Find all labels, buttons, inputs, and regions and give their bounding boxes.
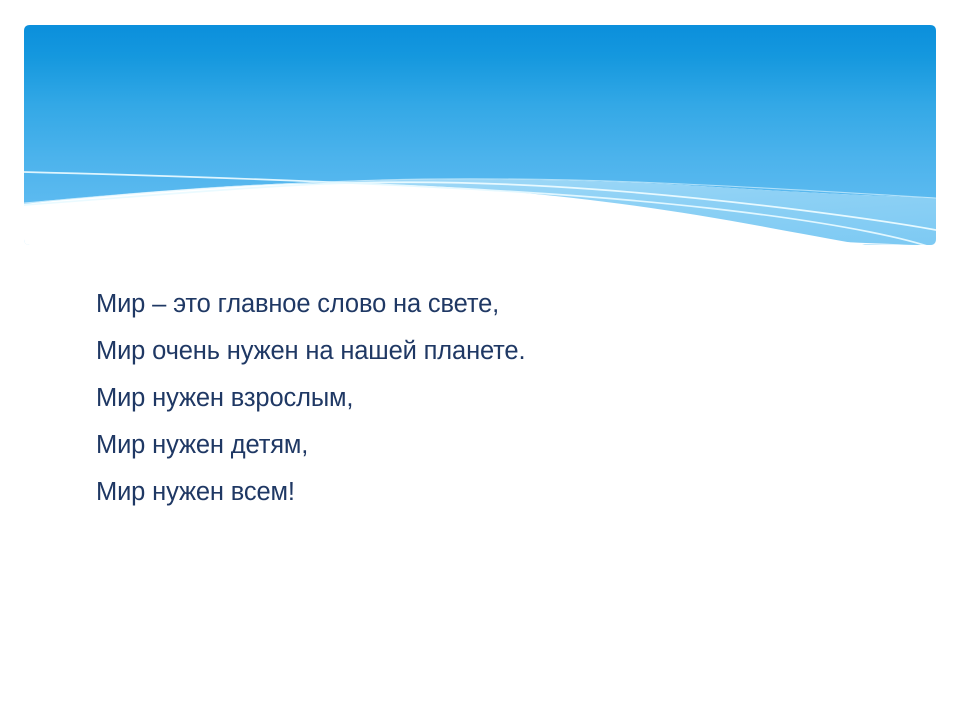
accent-highlight-edge xyxy=(24,179,936,203)
text-line-3: Мир нужен взрослым, xyxy=(96,375,896,422)
banner-graphic xyxy=(0,0,960,280)
text-line-1: Мир – это главное слово на свете, xyxy=(96,281,896,328)
primary-blue-wave xyxy=(24,25,936,203)
blue-wave-banner-decoration xyxy=(0,0,960,280)
banner-clipped-group xyxy=(24,25,936,280)
text-line-4: Мир нужен детям, xyxy=(96,422,896,469)
white-wave-cutout xyxy=(24,183,936,280)
slide-canvas: Мир – это главное слово на свете, Мир оч… xyxy=(0,0,960,720)
text-line-5: Мир нужен всем! xyxy=(96,469,896,516)
text-line-2: Мир очень нужен на нашей планете. xyxy=(96,328,896,375)
accent-curve-descending xyxy=(24,172,936,249)
accent-curve-ascending xyxy=(24,182,936,230)
light-blue-band xyxy=(24,179,936,245)
body-text-block: Мир – это главное слово на свете, Мир оч… xyxy=(96,281,896,516)
secondary-light-wave xyxy=(24,150,936,250)
